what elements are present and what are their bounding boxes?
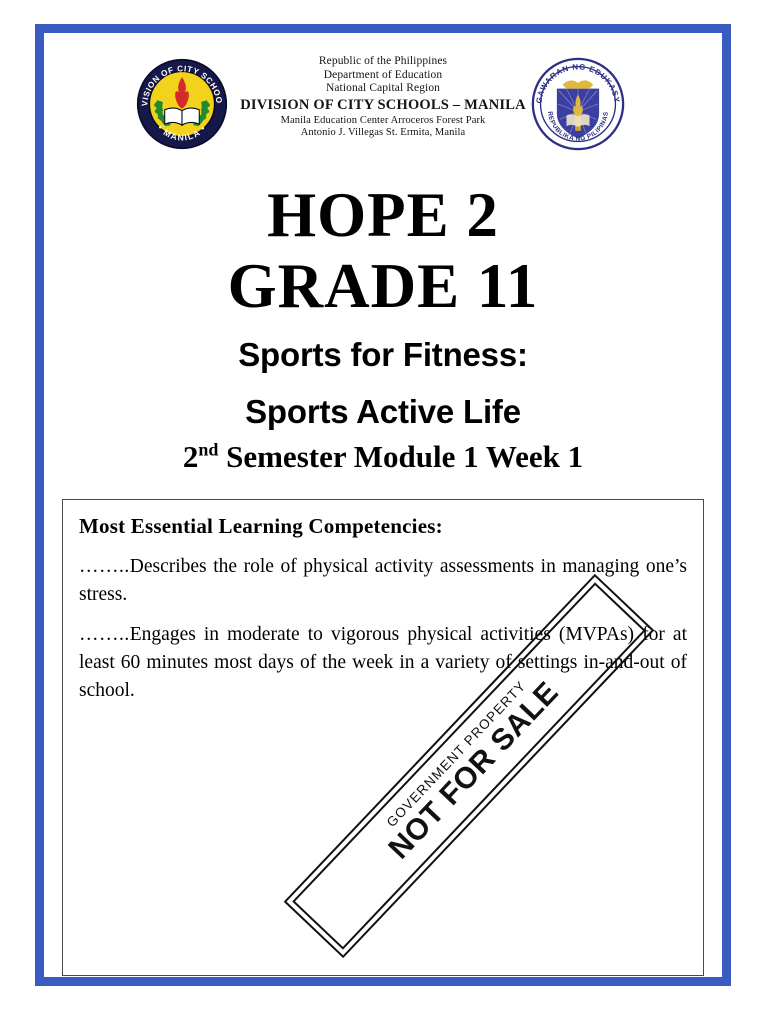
deped-seal-icon: KAGAWARAN NG EDUKASYON REPUBLIKA NG PILI… [530, 56, 626, 152]
subtitle-sports-for-fitness: Sports for Fitness: [52, 332, 714, 379]
division-of-city-schools-seal-icon: DIVISION OF CITY SCHOOLS • MANILA • [134, 56, 230, 152]
page-title-grade: GRADE 11 [52, 251, 714, 322]
module-week-line: 2nd Semester Module 1 Week 1 [52, 438, 714, 475]
letterhead-line-department: Department of Education [238, 69, 528, 83]
title-block: HOPE 2 GRADE 11 Sports for Fitness: Spor… [52, 180, 714, 475]
letterhead-text-block: Republic of the Philippines Department o… [238, 55, 528, 140]
module-number: 2 [183, 439, 199, 474]
competency-2-dots: …….. [79, 624, 130, 645]
subtitle-sports-active-life: Sports Active Life [52, 389, 714, 436]
letterhead-line-address-2: Antonio J. Villegas St. Ermita, Manila [238, 127, 528, 139]
letterhead-line-region: National Capital Region [238, 82, 528, 96]
letterhead-line-address-1: Manila Education Center Arroceros Forest… [238, 115, 528, 127]
module-ordinal-suffix: nd [198, 440, 218, 460]
letterhead-line-republic: Republic of the Philippines [238, 55, 528, 69]
letterhead-line-division: DIVISION OF CITY SCHOOLS – MANILA [238, 97, 528, 114]
competencies-heading: Most Essential Learning Competencies: [79, 514, 687, 539]
letterhead: DIVISION OF CITY SCHOOLS • MANILA • [52, 50, 714, 162]
module-cover-page: DIVISION OF CITY SCHOOLS • MANILA • [0, 0, 768, 1024]
module-rest-text: Semester Module 1 Week 1 [218, 439, 583, 474]
page-title-hope: HOPE 2 [52, 180, 714, 251]
competency-1-dots: …….. [79, 556, 130, 577]
